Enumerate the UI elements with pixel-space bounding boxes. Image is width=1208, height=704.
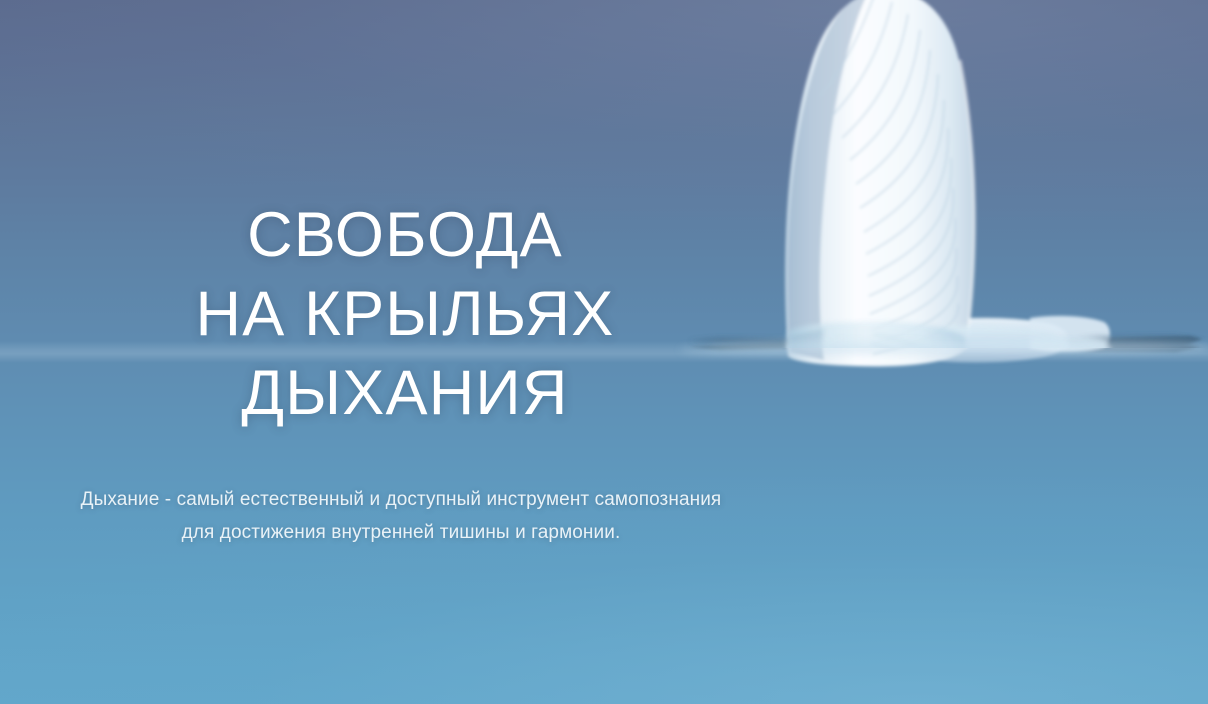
page-title: СВОБОДА НА КРЫЛЬЯХ ДЫХАНИЯ [0, 196, 810, 433]
headline-line-2: НА КРЫЛЬЯХ [0, 275, 810, 354]
page-subtitle: Дыхание - самый естественный и доступный… [0, 483, 802, 549]
headline-line-1: СВОБОДА [0, 196, 810, 275]
hero-banner: СВОБОДА НА КРЫЛЬЯХ ДЫХАНИЯ Дыхание - сам… [0, 0, 1208, 704]
headline-line-3: ДЫХАНИЯ [0, 354, 810, 433]
subtitle-line-2: для достижения внутренней тишины и гармо… [0, 516, 802, 549]
subtitle-line-1: Дыхание - самый естественный и доступный… [0, 483, 802, 516]
